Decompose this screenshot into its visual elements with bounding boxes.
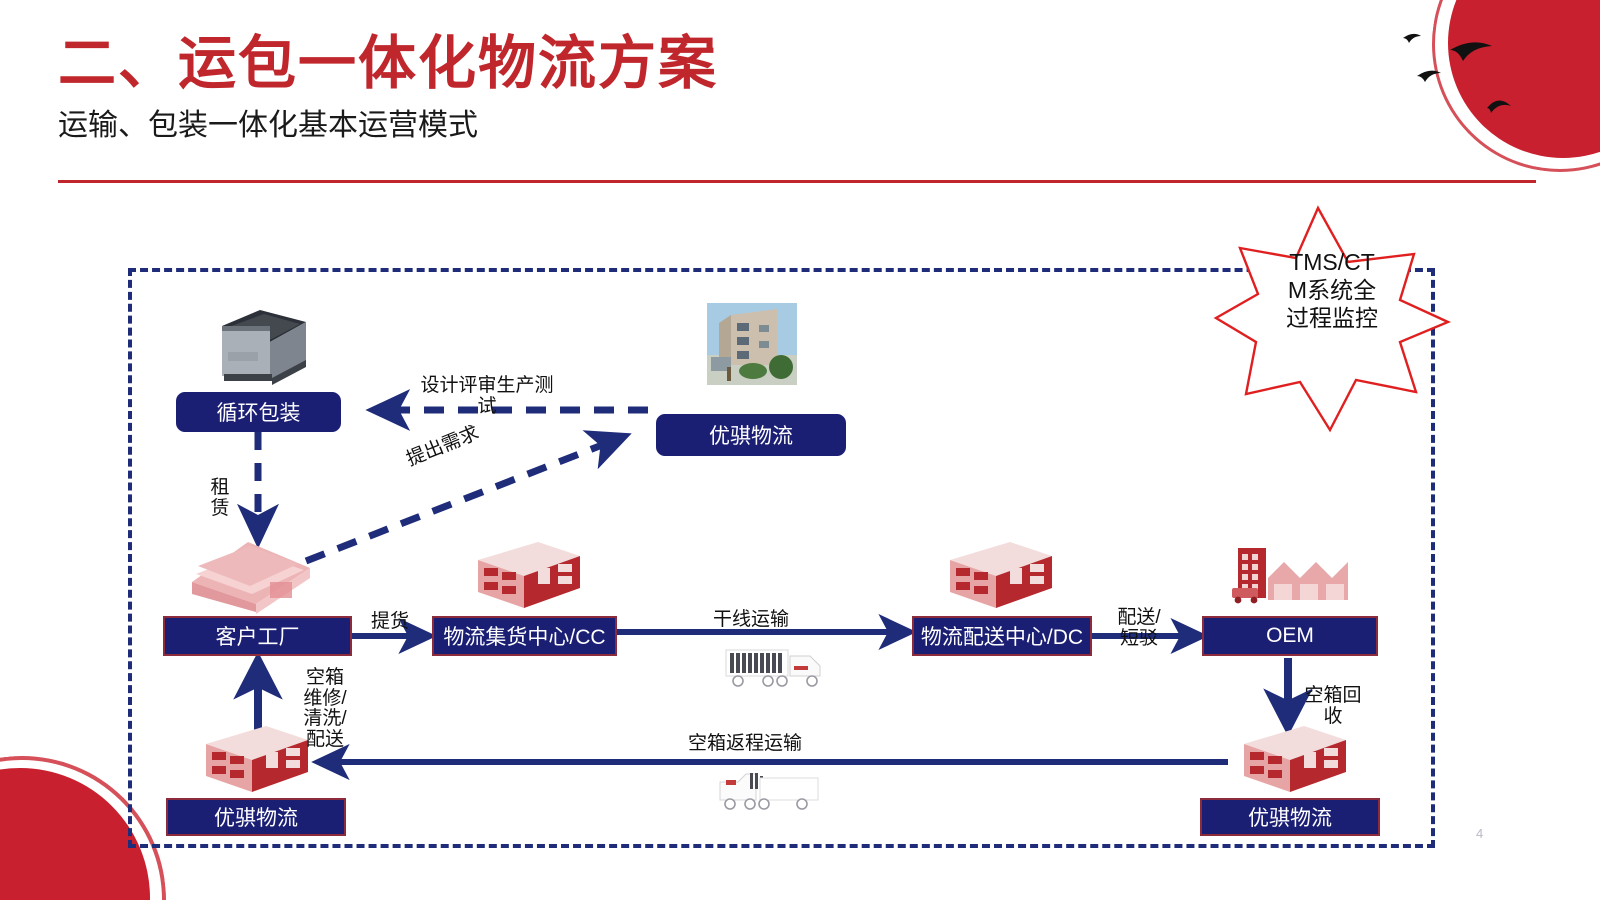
factory-icon-red-oem [1228,540,1352,614]
factory-icon-pink [186,538,316,618]
node-label: 客户工厂 [216,621,300,651]
truck-empty-icon [716,768,826,814]
warehouse-icon-red-dc [940,538,1058,614]
edge-label-design-review: 设计评审生产测 试 [402,376,572,417]
truck-loaded-icon [724,644,834,692]
node-youqi-logistics-top[interactable]: 优骐物流 [656,414,846,456]
edge-label-empty-box-return: 空箱返程运输 [688,734,802,755]
node-youqi-logistics-bottom-right[interactable]: 优骐物流 [1200,798,1380,836]
node-oem[interactable]: OEM [1202,616,1378,656]
office-building-photo [707,303,797,385]
slide-canvas: 二、运包一体化物流方案 运输、包装一体化基本运营模式 [0,0,1600,900]
node-youqi-logistics-bottom-left[interactable]: 优骐物流 [166,798,346,836]
node-dc-center[interactable]: 物流配送中心/DC [912,616,1092,656]
plastic-container-photo [208,302,312,386]
starburst-callout-text: TMS/CT M系统全 过程监控 [1252,248,1412,332]
node-cyclic-packaging[interactable]: 循环包装 [176,392,341,432]
node-label: 优骐物流 [1248,802,1332,832]
warehouse-icon-red-cc [468,538,586,614]
node-label: 物流配送中心/DC [921,621,1083,651]
node-label: 物流集货中心/CC [443,621,605,651]
node-label: 优骐物流 [214,802,298,832]
edge-label-trunk-transport: 干线运输 [713,610,789,631]
page-title: 二、运包一体化物流方案 [58,16,718,100]
edge-label-lease: 租 赁 [206,478,234,519]
header-divider [58,180,1536,183]
edge-label-pickup: 提货 [371,612,409,633]
edge-label-empty-box-recycle: 空箱回 收 [1300,686,1366,727]
callout-line-3: 过程监控 [1252,304,1412,332]
edge-label-empty-box-service: 空箱 维修/ 清洗/ 配送 [294,668,356,750]
node-label: OEM [1266,624,1314,648]
page-subtitle: 运输、包装一体化基本运营模式 [58,100,478,144]
callout-line-2: M系统全 [1252,276,1412,304]
warehouse-icon-red-bottom-right [1234,722,1352,798]
node-label: 循环包装 [217,397,301,427]
edge-label-delivery-shuttle: 配送/ 短驳 [1104,608,1174,649]
callout-line-1: TMS/CT [1252,248,1412,276]
node-cc-center[interactable]: 物流集货中心/CC [432,616,617,656]
node-label: 优骐物流 [709,420,793,450]
birds-decoration-icon [1395,8,1535,128]
node-customer-factory[interactable]: 客户工厂 [163,616,352,656]
page-number: 4 [1476,826,1483,841]
